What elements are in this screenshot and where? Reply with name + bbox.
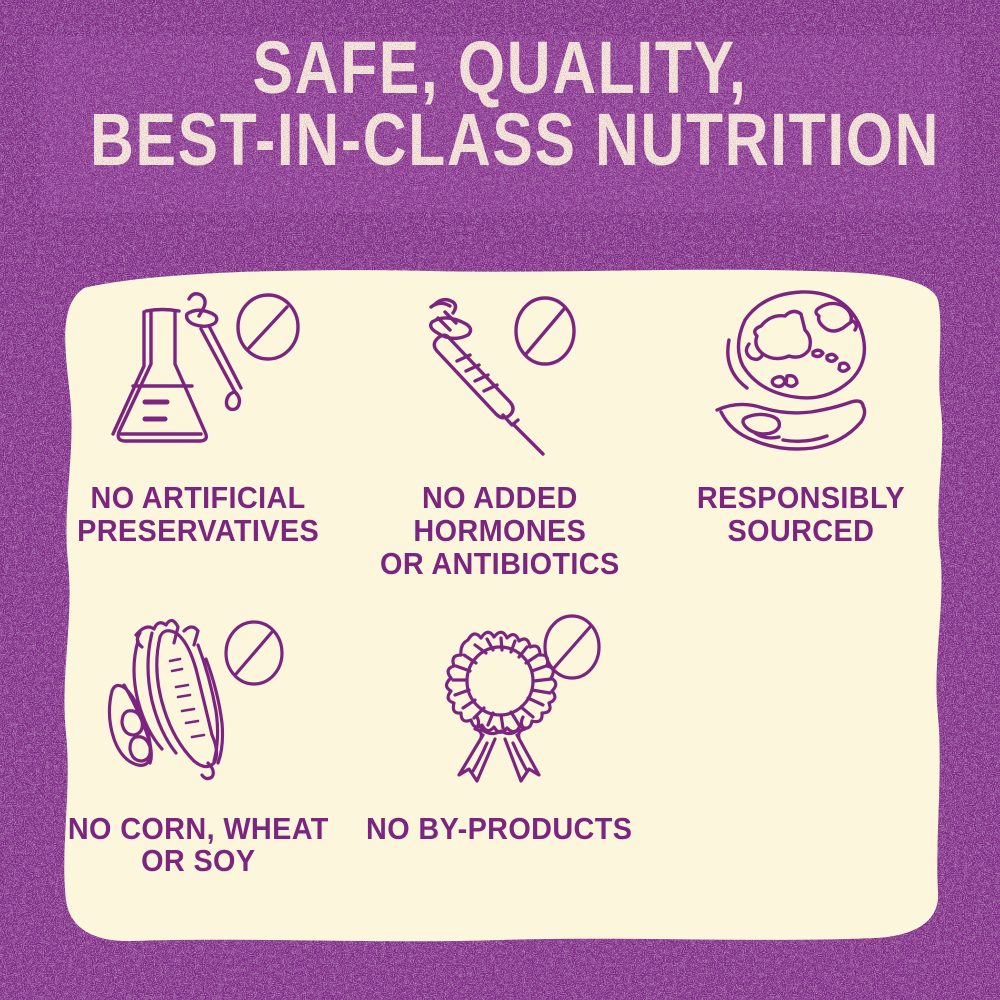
globe-in-hand-icon [701,282,901,460]
prohibition-circle-icon [226,622,282,684]
feature-row-bottom: NO CORN, WHEAT OR SOY [48,581,952,879]
icon-syringe-prohibited [400,282,600,460]
syringe-prohibited-icon [400,282,600,460]
feature-grid: NO ARTIFICIAL PRESERVATIVES [48,268,952,940]
open-hand-icon [717,401,865,449]
feature-no-corn-wheat-or-soy[interactable]: NO CORN, WHEAT OR SOY [48,605,349,879]
feature-label: NO CORN, WHEAT OR SOY [68,813,329,879]
icon-flask-dropper-prohibited [89,282,309,460]
feature-responsibly-sourced[interactable]: RESPONSIBLY SOURCED [650,282,951,581]
feature-no-added-hormones-or-antibiotics[interactable]: NO ADDED HORMONES OR ANTIBIOTICS [349,282,650,581]
soy-pod-icon [109,685,151,765]
dropper-pipette-icon [186,294,240,410]
icon-corn-soy-prohibited [94,605,304,783]
icon-award-rosette-prohibited [395,605,605,783]
feature-label: NO ARTIFICIAL PRESERVATIVES [78,482,320,548]
page-title-line-1: SAFE, QUALITY, [90,34,910,102]
award-rosette-prohibited-icon [395,605,605,783]
page-title-line-2: BEST-IN-CLASS NUTRITION [90,106,910,174]
prohibition-circle-icon [516,298,574,364]
corn-cob-icon [134,620,223,778]
feature-label: NO BY-PRODUCTS [366,813,632,846]
feature-row-bottom-spacer [650,605,951,879]
icon-globe-in-hand [701,282,901,460]
prohibition-circle-icon [545,616,599,678]
corn-soy-prohibited-icon [94,605,304,783]
flask-dropper-prohibited-icon [89,282,309,460]
syringe-icon [430,300,542,454]
feature-label: NO ADDED HORMONES OR ANTIBIOTICS [380,482,620,581]
award-rosette-icon [446,632,555,781]
feature-label: RESPONSIBLY SOURCED [696,482,904,548]
prohibition-circle-icon [238,295,298,359]
feature-no-artificial-preservatives[interactable]: NO ARTIFICIAL PRESERVATIVES [48,282,349,581]
feature-no-by-products[interactable]: NO BY-PRODUCTS [349,605,650,879]
erlenmeyer-flask-icon [113,310,206,442]
globe-icon [727,292,864,398]
feature-row-top: NO ARTIFICIAL PRESERVATIVES [48,268,952,581]
page-title: SAFE, QUALITY, BEST-IN-CLASS NUTRITION [0,34,1000,174]
